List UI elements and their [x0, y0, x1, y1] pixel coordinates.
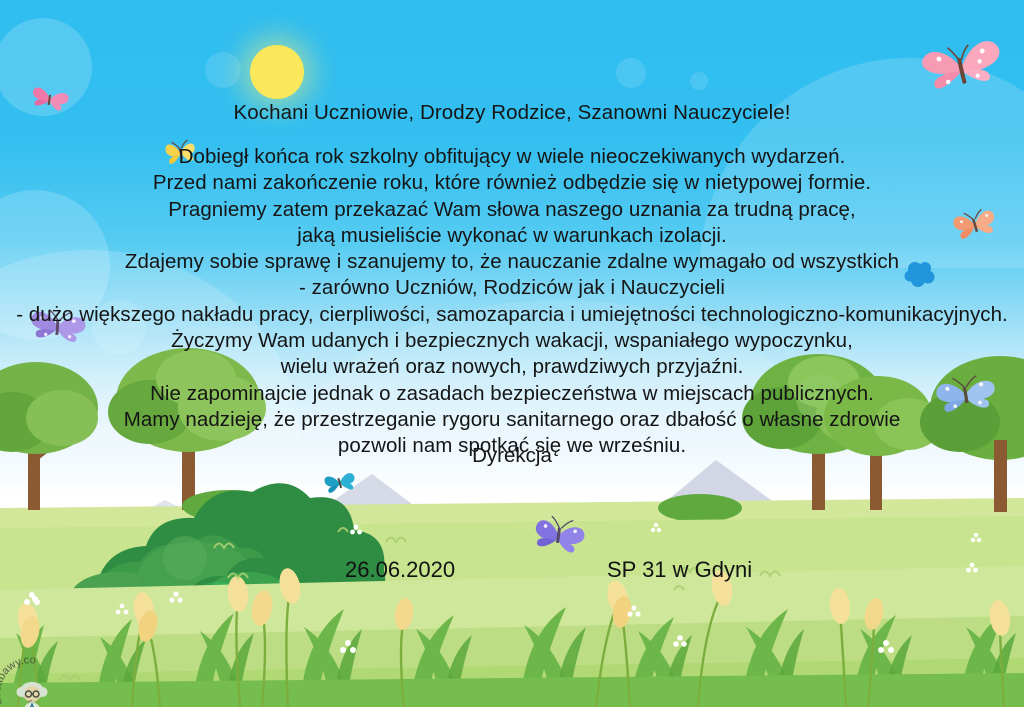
- butterfly-pink-topright-icon: [918, 30, 1004, 100]
- tree-left-1: [0, 362, 98, 510]
- scientist-avatar-icon: [17, 682, 48, 707]
- daisies: [24, 523, 981, 653]
- butterfly-blue-icon: [932, 368, 1000, 420]
- watermark-logo: duzabawy.co: [0, 652, 68, 707]
- grass-squiggles: [60, 528, 780, 680]
- flower-buds: [15, 566, 1012, 649]
- butterfly-purple-icon: [27, 302, 89, 350]
- cloud-blob-2: [205, 52, 241, 88]
- cloud-blob-3: [616, 58, 646, 88]
- blue-flower-icon: [903, 258, 937, 292]
- butterfly-teal-icon: [322, 467, 358, 497]
- butterfly-violet-icon: [530, 510, 588, 560]
- meadow-flowers: [0, 490, 1024, 707]
- butterfly-orange-icon: [950, 202, 1000, 244]
- butterfly-pink-left-icon: [30, 82, 70, 116]
- tree-left-2: [108, 348, 266, 510]
- cloud-blob-4: [690, 72, 708, 90]
- sun-icon: [250, 45, 304, 99]
- butterfly-yellow-icon: [163, 134, 199, 170]
- greeting-card-scene: Kochani Uczniowie, Drodzy Rodzice, Szano…: [0, 0, 1024, 707]
